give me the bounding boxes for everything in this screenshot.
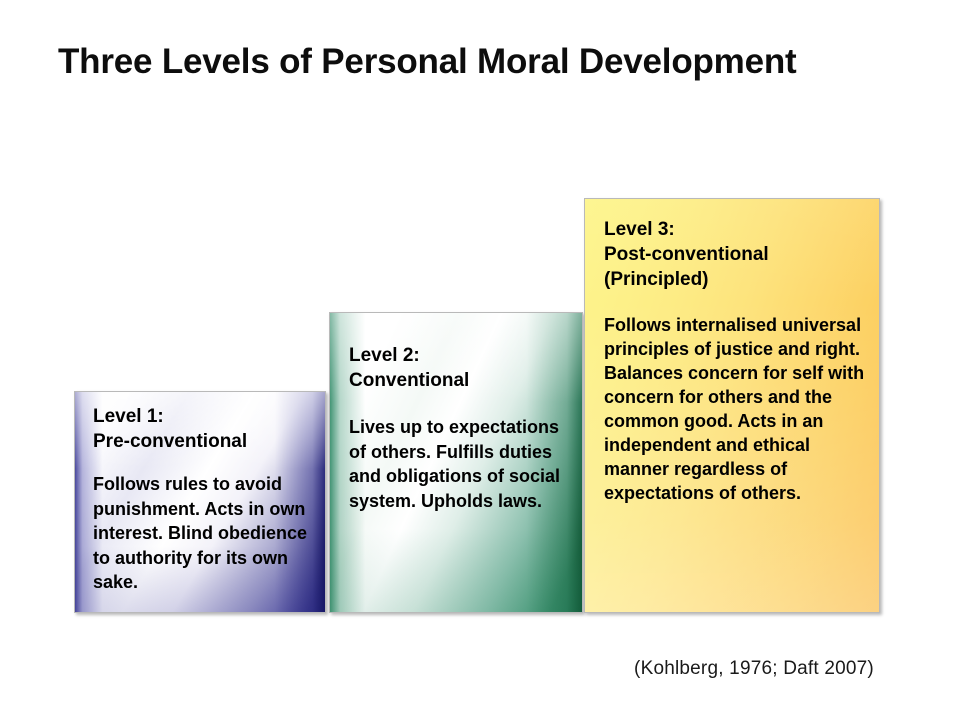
level-2-body: Lives up to expectations of others. Fulf… (349, 415, 572, 513)
page-title: Three Levels of Personal Moral Developme… (58, 40, 858, 85)
level-3-box[interactable]: Level 3: Post-conventional (Principled) … (584, 198, 880, 613)
level-3-content: Level 3: Post-conventional (Principled) … (585, 199, 879, 612)
level-3-body: Follows internalised universal principle… (604, 314, 865, 506)
level-1-spacer (93, 454, 315, 472)
level-3-spacer (604, 292, 865, 314)
level-2-box[interactable]: Level 2: Conventional Lives up to expect… (329, 312, 583, 613)
level-3-heading: Level 3: Post-conventional (Principled) (604, 217, 865, 292)
level-1-content: Level 1: Pre-conventional Follows rules … (75, 392, 325, 612)
level-2-spacer (349, 393, 572, 415)
level-1-box[interactable]: Level 1: Pre-conventional Follows rules … (74, 391, 326, 613)
level-1-body: Follows rules to avoid punishment. Acts … (93, 472, 315, 594)
level-2-content: Level 2: Conventional Lives up to expect… (330, 313, 582, 612)
source-citation: (Kohlberg, 1976; Daft 2007) (594, 658, 914, 680)
level-1-heading: Level 1: Pre-conventional (93, 404, 315, 454)
level-2-heading: Level 2: Conventional (349, 343, 572, 393)
slide-canvas: Three Levels of Personal Moral Developme… (0, 0, 960, 720)
